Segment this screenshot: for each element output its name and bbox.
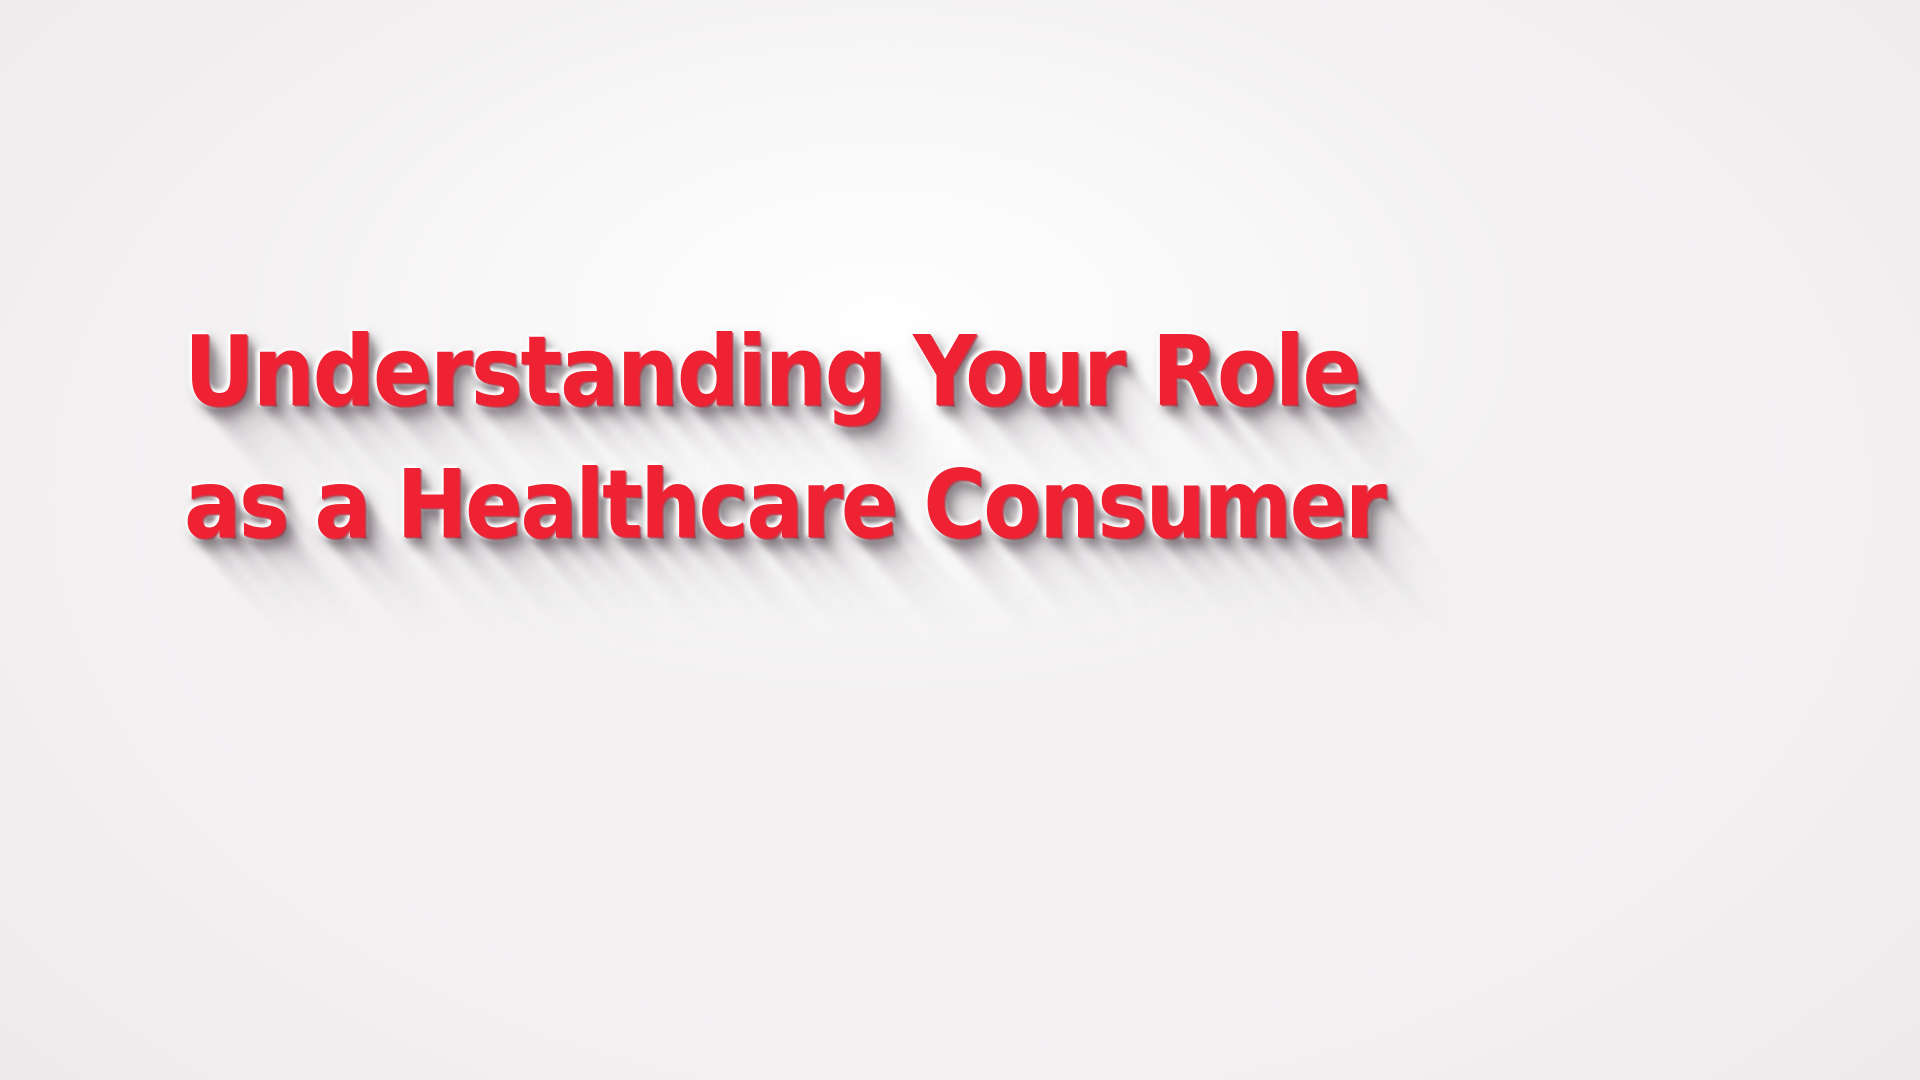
headline-line-2: as a Healthcare Consumer as a Healthcare… xyxy=(184,439,1444,573)
headline-block: Understanding Your Role Understanding Yo… xyxy=(184,305,1444,573)
headline-line-1: Understanding Your Role Understanding Yo… xyxy=(184,305,1444,439)
title-slide: Understanding Your Role Understanding Yo… xyxy=(0,0,1920,1080)
headline-line-2-text: as a Healthcare Consumer xyxy=(184,439,1384,573)
headline-line-1-text: Understanding Your Role xyxy=(184,305,1359,439)
